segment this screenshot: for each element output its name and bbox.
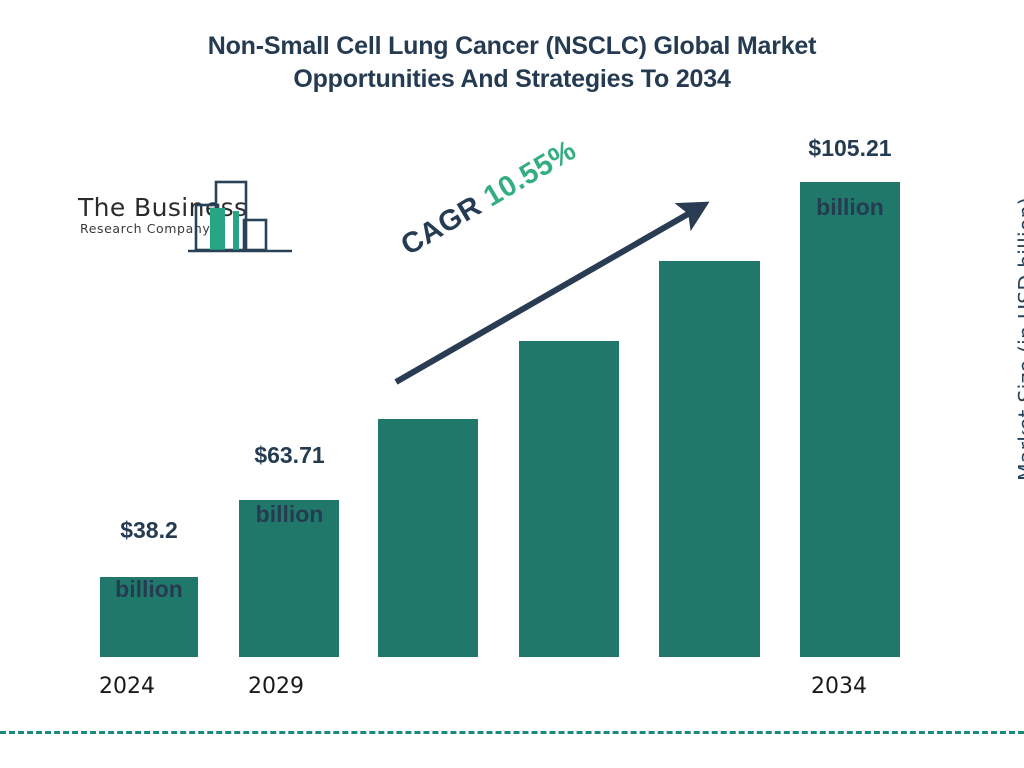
value-label-2029-unit: billion xyxy=(212,500,367,529)
company-logo: The Business Research Company xyxy=(78,190,284,255)
value-label-2024-amount: $38.2 xyxy=(74,516,224,545)
x-tick-2029: 2029 xyxy=(248,674,304,699)
bar-chart-logo-icon xyxy=(188,178,293,258)
value-label-2029-amount: $63.71 xyxy=(212,441,367,470)
page-title-line-2: Opportunities And Strategies To 2034 xyxy=(112,63,912,96)
chart-canvas: Non-Small Cell Lung Cancer (NSCLC) Globa… xyxy=(0,0,1024,768)
value-label-2024-unit: billion xyxy=(74,575,224,604)
value-label-2024: $38.2 billion xyxy=(74,487,224,634)
bar-2034 xyxy=(800,182,900,657)
page-title-line-1: Non-Small Cell Lung Cancer (NSCLC) Globa… xyxy=(112,30,912,63)
value-label-2034-unit: billion xyxy=(752,193,948,222)
value-label-2029: $63.71 billion xyxy=(212,412,367,559)
y-axis-title: Market Size (in USD billion) xyxy=(1014,169,1024,509)
value-label-2034-amount: $105.21 xyxy=(752,134,948,163)
bar-3 xyxy=(378,419,478,657)
x-tick-2034: 2034 xyxy=(811,674,867,699)
footer-divider xyxy=(0,731,1024,734)
x-tick-2024: 2024 xyxy=(99,674,155,699)
value-label-2034: $105.21 billion xyxy=(752,105,948,252)
page-title: Non-Small Cell Lung Cancer (NSCLC) Globa… xyxy=(112,30,912,96)
